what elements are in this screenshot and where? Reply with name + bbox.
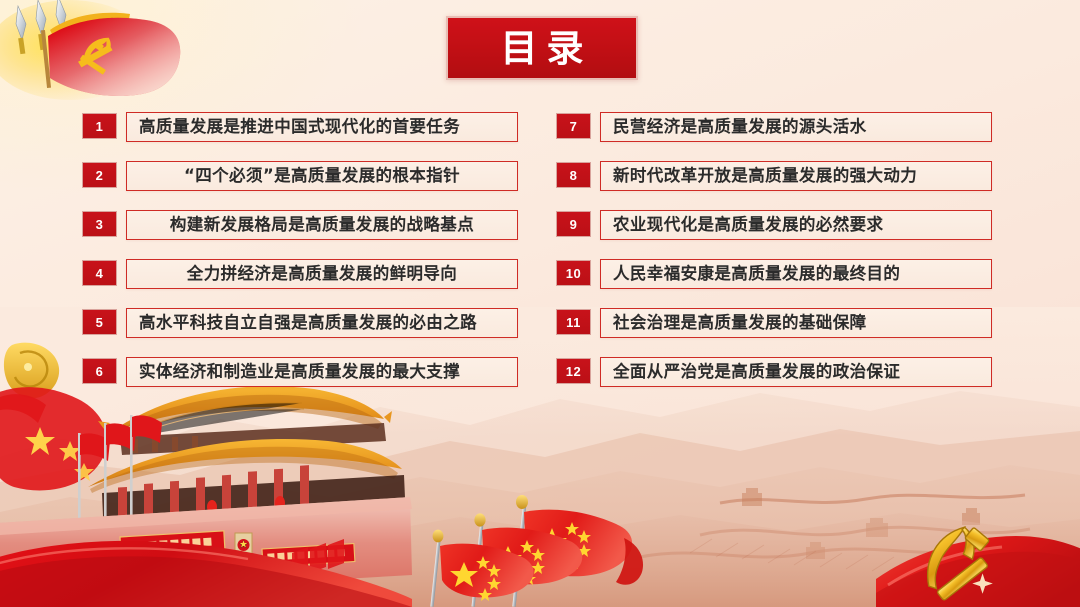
toc-left-column: 1 高质量发展是推进中国式现代化的首要任务 2 “四个必须”是高质量发展的根本指… <box>82 112 519 406</box>
chinese-national-flags-icon <box>398 482 678 607</box>
toc-item-label: 社会治理是高质量发展的基础保障 <box>613 315 867 332</box>
toc-item-number: 11 <box>556 309 591 335</box>
banner-text-left <box>126 538 211 551</box>
toc-item-label: 构建新发展格局是高质量发展的战略基点 <box>139 217 505 234</box>
toc-item-box[interactable]: 人民幸福安康是高质量发展的最终目的 <box>600 259 992 289</box>
toc-item-number: 1 <box>82 113 117 139</box>
toc-item-label: 全力拼经济是高质量发展的鲜明导向 <box>139 266 505 283</box>
toc-item[interactable]: 10 人民幸福安康是高质量发展的最终目的 <box>556 259 993 308</box>
toc-item[interactable]: 5 高水平科技自立自强是高质量发展的必由之路 <box>82 308 519 357</box>
toc-item-number: 9 <box>556 211 591 237</box>
toc-item-box[interactable]: 全力拼经济是高质量发展的鲜明导向 <box>126 259 518 289</box>
toc-item-label: 农业现代化是高质量发展的必然要求 <box>613 217 883 234</box>
toc-item-box[interactable]: 民营经济是高质量发展的源头活水 <box>600 112 992 142</box>
toc-item-number: 3 <box>82 211 117 237</box>
party-flag-icon <box>0 0 196 116</box>
toc-item-label: 实体经济和制造业是高质量发展的最大支撑 <box>139 364 460 381</box>
toc-item-box[interactable]: 实体经济和制造业是高质量发展的最大支撑 <box>126 357 518 387</box>
toc-item-box[interactable]: 构建新发展格局是高质量发展的战略基点 <box>126 210 518 240</box>
toc-item-number: 2 <box>82 162 117 188</box>
toc-item-label: 高质量发展是推进中国式现代化的首要任务 <box>139 119 460 136</box>
toc-item-box[interactable]: 农业现代化是高质量发展的必然要求 <box>600 210 992 240</box>
toc-item-number: 10 <box>556 260 591 286</box>
toc-item-label: 高水平科技自立自强是高质量发展的必由之路 <box>139 315 477 332</box>
toc-item-number: 8 <box>556 162 591 188</box>
toc-item[interactable]: 1 高质量发展是推进中国式现代化的首要任务 <box>82 112 519 161</box>
toc-item-number: 7 <box>556 113 591 139</box>
presentation-slide: 目录 1 高质量发展是推进中国式现代化的首要任务 2 “四个必须”是高质量发展的… <box>0 0 1080 607</box>
toc-item[interactable]: 6 实体经济和制造业是高质量发展的最大支撑 <box>82 357 519 406</box>
banner-text-right <box>267 549 344 561</box>
toc-item[interactable]: 9 农业现代化是高质量发展的必然要求 <box>556 210 993 259</box>
toc-item[interactable]: 11 社会治理是高质量发展的基础保障 <box>556 308 993 357</box>
toc-item-box[interactable]: 社会治理是高质量发展的基础保障 <box>600 308 992 338</box>
page-title: 目录 <box>446 16 638 80</box>
toc-item-number: 5 <box>82 309 117 335</box>
page-title-text: 目录 <box>492 30 593 67</box>
toc-item-number: 4 <box>82 260 117 286</box>
toc-item-label: 民营经济是高质量发展的源头活水 <box>613 119 867 136</box>
toc-item-label: “四个必须”是高质量发展的根本指针 <box>139 168 505 185</box>
toc-item-box[interactable]: 全面从严治党是高质量发展的政治保证 <box>600 357 992 387</box>
toc-item-label: 全面从严治党是高质量发展的政治保证 <box>613 364 900 381</box>
toc-item-number: 12 <box>556 358 591 384</box>
toc-item-label: 人民幸福安康是高质量发展的最终目的 <box>613 266 900 283</box>
toc-item-box[interactable]: “四个必须”是高质量发展的根本指针 <box>126 161 518 191</box>
toc-item[interactable]: 4 全力拼经济是高质量发展的鲜明导向 <box>82 259 519 308</box>
table-of-contents: 1 高质量发展是推进中国式现代化的首要任务 2 “四个必须”是高质量发展的根本指… <box>0 112 1080 407</box>
toc-item[interactable]: 2 “四个必须”是高质量发展的根本指针 <box>82 161 519 210</box>
toc-item-box[interactable]: 新时代改革开放是高质量发展的强大动力 <box>600 161 992 191</box>
toc-item[interactable]: 7 民营经济是高质量发展的源头活水 <box>556 112 993 161</box>
cpc-emblem-icon <box>876 493 1080 607</box>
toc-item-box[interactable]: 高质量发展是推进中国式现代化的首要任务 <box>126 112 518 142</box>
toc-item[interactable]: 3 构建新发展格局是高质量发展的战略基点 <box>82 210 519 259</box>
toc-item-number: 6 <box>82 358 117 384</box>
toc-right-column: 7 民营经济是高质量发展的源头活水 8 新时代改革开放是高质量发展的强大动力 9… <box>556 112 993 406</box>
toc-item[interactable]: 8 新时代改革开放是高质量发展的强大动力 <box>556 161 993 210</box>
toc-item-label: 新时代改革开放是高质量发展的强大动力 <box>613 168 917 185</box>
toc-item[interactable]: 12 全面从严治党是高质量发展的政治保证 <box>556 357 993 406</box>
toc-item-box[interactable]: 高水平科技自立自强是高质量发展的必由之路 <box>126 308 518 338</box>
